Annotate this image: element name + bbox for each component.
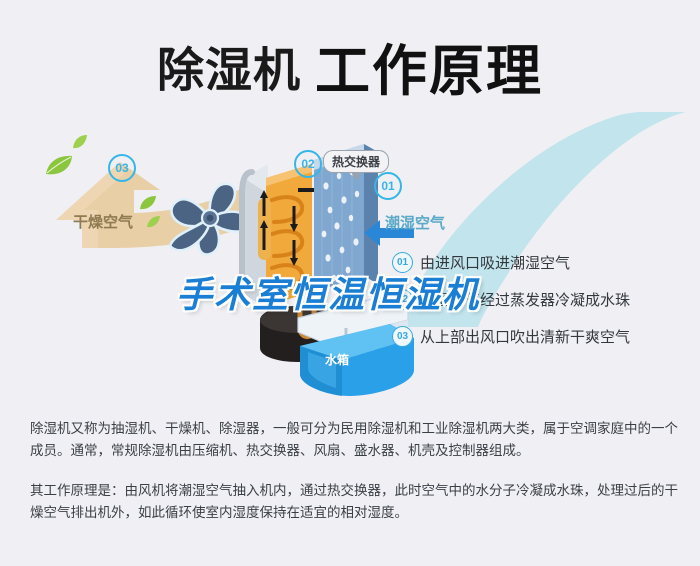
heat-exchanger-tag: 热交换器	[323, 150, 389, 173]
leaf-icon-1	[44, 154, 74, 176]
diagram-badge-01: 01	[374, 172, 402, 200]
title-part-two: 工作原理	[315, 40, 543, 102]
paragraph-one: 除湿机又称为抽湿机、干燥机、除湿器，一般可分为民用除湿机和工业除湿机两大类，属于…	[30, 418, 678, 462]
step-text-03: 从上部出风口吹出清新干爽空气	[420, 326, 630, 347]
dry-air-label: 干燥空气	[73, 211, 133, 232]
diagram-badge-02: 02	[294, 150, 322, 178]
leaf-icon-2	[72, 134, 88, 150]
moist-air-label: 潮湿空气	[385, 212, 445, 233]
diagram-badge-03: 03	[108, 154, 136, 182]
watermark-text: 手术室恒温恒湿机	[176, 266, 480, 318]
infographic-page: 除湿机工作原理	[0, 0, 700, 566]
list-item: 03 从上部出风口吹出清新干爽空气	[392, 326, 692, 347]
step-badge-03: 03	[392, 326, 413, 347]
paragraph-two: 其工作原理是：由风机将潮湿空气抽入机内，通过热交换器，此时空气中的水分子冷凝成水…	[30, 480, 678, 524]
description-block: 除湿机又称为抽湿机、干燥机、除湿器，一般可分为民用除湿机和工业除湿机两大类，属于…	[30, 418, 678, 524]
title-part-one: 除湿机	[157, 44, 301, 97]
water-tank-label: 水箱	[325, 351, 349, 368]
page-title: 除湿机工作原理	[0, 26, 700, 106]
